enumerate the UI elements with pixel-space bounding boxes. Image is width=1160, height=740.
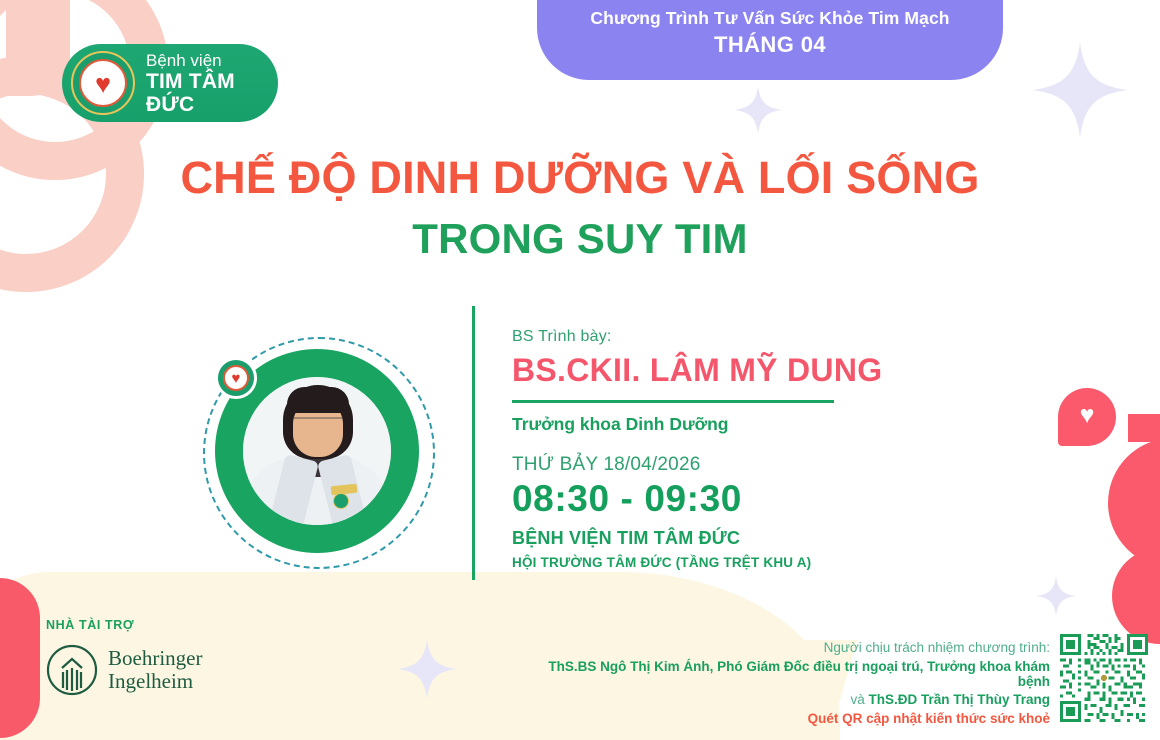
pink-circle-right [1108, 438, 1160, 568]
speaker-photo: ♥ [203, 337, 431, 565]
boehringer-ingelheim-logo-icon [46, 644, 98, 696]
program-credits: Người chịu trách nhiệm chương trình: ThS… [540, 640, 1050, 726]
banner-line-1: Chương Trình Tư Vấn Sức Khỏe Tim Mạch [537, 8, 1003, 29]
qr-code[interactable] [1060, 634, 1148, 722]
horizontal-divider [512, 400, 834, 403]
program-banner: Chương Trình Tư Vấn Sức Khỏe Tim Mạch TH… [537, 0, 1003, 80]
page-title-line-1: CHẾ ĐỘ DINH DƯỠNG VÀ LỐI SỐNG [0, 152, 1160, 204]
vertical-divider [472, 306, 475, 580]
badge-heart-glyph: ♥ [218, 360, 254, 396]
heart-glyph: ♥ [1058, 386, 1116, 444]
event-poster: ♥ Chương Trình Tư Vấn Sức Khỏe Tim Mạch … [0, 0, 1160, 740]
speaker-name: BS.CKII. LÂM MỸ DUNG [512, 352, 982, 389]
credits-person-1: ThS.BS Ngô Thị Kim Ánh, Phó Giám Đốc điề… [540, 659, 1050, 689]
event-details: BS Trình bày: BS.CKII. LÂM MỸ DUNG Trưởn… [512, 328, 982, 570]
sponsor-name-line-2: Ingelheim [108, 670, 202, 693]
banner-line-2: THÁNG 04 [537, 32, 1003, 58]
qr-call-to-action: Quét QR cập nhật kiến thức sức khoẻ [540, 711, 1050, 726]
credits-person-2-name: ThS.ĐD Trần Thị Thùy Trang [868, 692, 1050, 707]
credits-conjunction: và [850, 692, 868, 707]
sparkle-icon [1030, 40, 1130, 140]
event-date: THỨ BẢY 18/04/2026 [512, 454, 982, 476]
hospital-logo: ♥ ♥ Bệnh viện TIM TÂM ĐỨC [62, 44, 278, 122]
blush-blob-bar [6, 0, 70, 96]
credits-person-2: và ThS.ĐD Trần Thị Thùy Trang [540, 692, 1050, 707]
heart-pin-icon: ♥ [1058, 388, 1116, 446]
sparkle-icon [396, 638, 458, 700]
avatar [243, 377, 391, 525]
event-time: 08:30 - 09:30 [512, 478, 982, 520]
event-venue: BỆNH VIỆN TIM TÂM ĐỨC [512, 528, 982, 549]
seal-heart-inner-glyph: ♥ [73, 53, 133, 113]
presenter-label: BS Trình bày: [512, 328, 982, 346]
sponsor-name-line-1: Boehringer [108, 647, 202, 670]
hospital-seal-icon: ♥ ♥ [71, 51, 135, 115]
pink-circle-corner [1112, 548, 1160, 644]
sponsor-section: NHÀ TÀI TRỢ Boehringer Ingelhei [46, 618, 266, 696]
speaker-role: Trưởng khoa Dinh Dưỡng [512, 414, 982, 435]
sponsor-label: NHÀ TÀI TRỢ [46, 618, 266, 632]
pink-square-shape [1128, 414, 1160, 442]
logo-line-1: Bệnh viện [146, 51, 278, 70]
sparkle-icon [733, 85, 783, 135]
event-room: HỘI TRƯỜNG TÂM ĐỨC (TẦNG TRỆT KHU A) [512, 555, 982, 570]
page-title-line-2: TRONG SUY TIM [0, 215, 1160, 263]
heart-badge-icon: ♥ [215, 357, 257, 399]
credits-responsible-label: Người chịu trách nhiệm chương trình: [540, 640, 1050, 655]
sparkle-icon [1035, 575, 1077, 617]
red-tab-shape [0, 578, 40, 738]
logo-line-2: TIM TÂM ĐỨC [146, 70, 278, 116]
